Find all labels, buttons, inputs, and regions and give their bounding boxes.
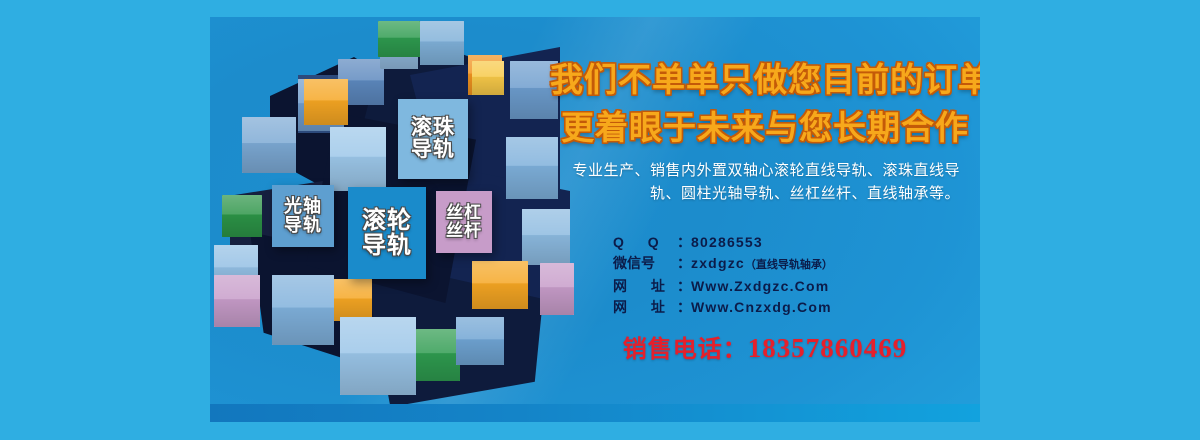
contact-colon: ：: [677, 232, 691, 253]
contact-row-wechat: 微信号 ： zxdgzc （直线导轨轴承）: [613, 253, 973, 276]
cube-purple: [214, 275, 260, 327]
cube-orange: [472, 261, 528, 309]
sales-phone-number[interactable]: 18357860469: [748, 333, 908, 363]
contact-row-website-1: 网 址 ： Www.Zxdgzc.Com: [613, 276, 973, 297]
contact-label-website-1: 网 址: [613, 276, 677, 297]
product-tile-ball-guide-line1: 滚珠: [411, 117, 455, 139]
contact-label-website-2: 网 址: [613, 297, 677, 318]
product-tile-ball-guide[interactable]: 滚珠 导轨: [398, 99, 468, 179]
headline-line-2: 更着眼于未来与您长期合作: [550, 101, 980, 149]
sales-phone[interactable]: 销售电话：18357860469: [550, 329, 980, 364]
headline-line-1: 我们不单单只做您目前的订单: [550, 53, 980, 101]
cube-orange: [304, 79, 348, 125]
contact-value-website-2[interactable]: Www.Cnzxdg.Com: [691, 297, 832, 318]
contact-value-wechat[interactable]: zxdgzc: [691, 253, 745, 274]
exploding-3d-cubes-graphic: 滚珠 导轨 光轴 导轨 滚轮 导轨 丝杠 丝杆: [210, 17, 570, 422]
banner-bottom-strip: [210, 404, 980, 422]
product-tile-roller-guide[interactable]: 滚轮 导轨: [348, 187, 426, 279]
contact-label-qq: Q Q: [613, 232, 677, 253]
sales-phone-label: 销售电话：: [623, 336, 748, 363]
cube: [272, 275, 334, 345]
product-tile-roller-guide-line2: 导轨: [362, 233, 412, 258]
product-tile-ball-guide-line2: 导轨: [411, 139, 455, 161]
cube-green: [222, 195, 262, 237]
cube: [456, 317, 504, 365]
contact-label-wechat: 微信号: [613, 253, 677, 274]
page-canvas: 滚珠 导轨 光轴 导轨 滚轮 导轨 丝杠 丝杆 我们不单单只做您目前的订单 更着…: [0, 0, 1200, 440]
cube-green: [378, 21, 420, 57]
contact-row-website-2: 网 址 ： Www.Cnzxdg.Com: [613, 297, 973, 318]
product-tile-screw-rod-line2: 丝杆: [446, 222, 482, 240]
contact-row-qq: Q Q ： 80286553: [613, 232, 973, 253]
contact-value-qq[interactable]: 80286553: [691, 232, 763, 253]
cube: [330, 127, 386, 191]
cube: [242, 117, 296, 173]
cube-yellow: [472, 61, 504, 95]
company-description: 专业生产、销售内外置双轴心滚轮直线导轨、滚珠直线导轨、圆柱光轴导轨、丝杠丝杆、直…: [560, 159, 960, 205]
contact-value-website-1[interactable]: Www.Zxdgzc.Com: [691, 276, 829, 297]
product-tile-shaft-guide-line1: 光轴: [284, 197, 322, 216]
cube: [340, 317, 416, 395]
product-tile-roller-guide-line1: 滚轮: [362, 208, 412, 233]
banner-copy-column: 我们不单单只做您目前的订单 更着眼于未来与您长期合作 专业生产、销售内外置双轴心…: [550, 17, 980, 422]
cube-green: [416, 329, 460, 381]
product-tile-shaft-guide-line2: 导轨: [284, 216, 322, 235]
cube-orange: [334, 279, 372, 321]
product-tile-shaft-guide[interactable]: 光轴 导轨: [272, 185, 334, 247]
contact-colon: ：: [677, 253, 691, 274]
promo-banner: 滚珠 导轨 光轴 导轨 滚轮 导轨 丝杠 丝杆 我们不单单只做您目前的订单 更着…: [210, 17, 980, 422]
cube: [420, 21, 464, 65]
contact-block: Q Q ： 80286553 微信号 ： zxdgzc （直线导轨轴承） 网 址…: [613, 232, 973, 318]
contact-note-wechat: （直线导轨轴承）: [745, 255, 833, 276]
contact-colon: ：: [677, 297, 691, 318]
contact-colon: ：: [677, 276, 691, 297]
product-tile-screw-rod[interactable]: 丝杠 丝杆: [436, 191, 492, 253]
product-tile-screw-rod-line1: 丝杠: [446, 204, 482, 222]
